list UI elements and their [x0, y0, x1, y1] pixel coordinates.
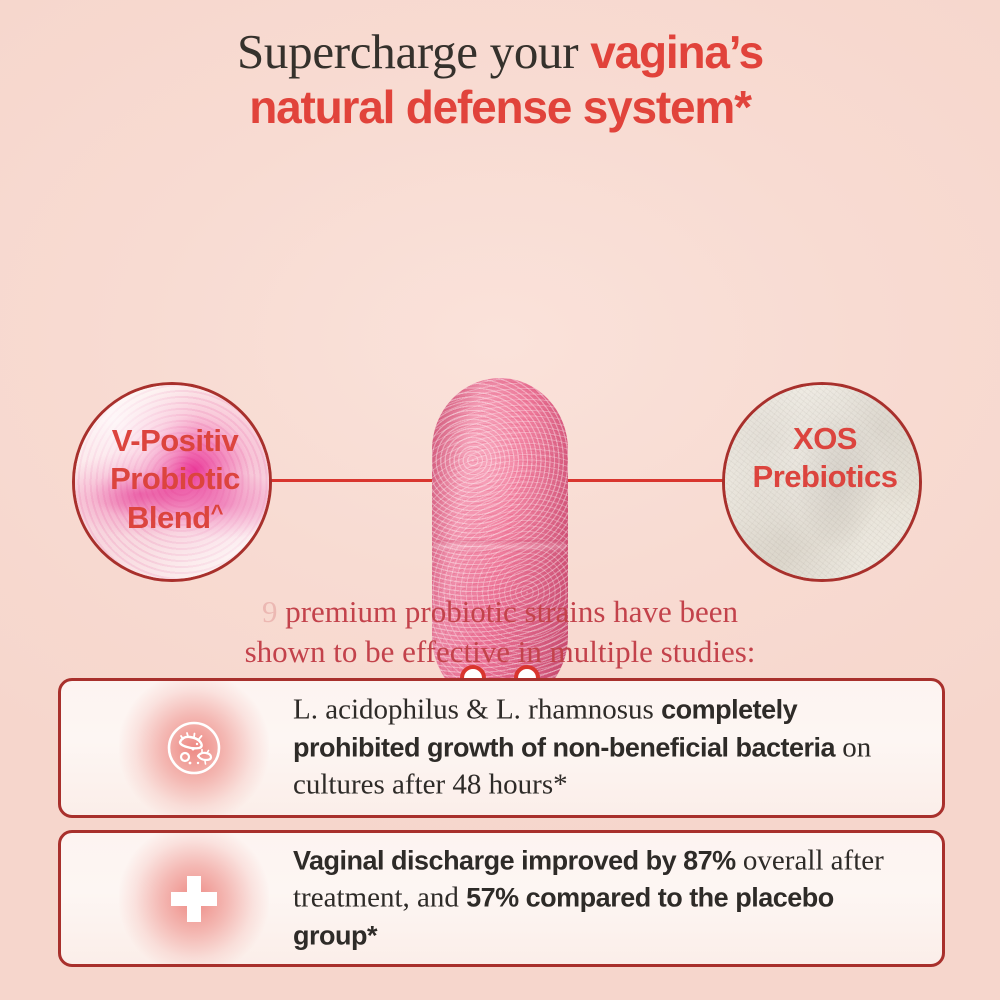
subheadline-text-1: premium probiotic strains have been [285, 594, 738, 629]
headline-line-1: Supercharge your vagina’s [0, 26, 1000, 78]
claim-text: Vaginal discharge improved by 87% overal… [293, 842, 918, 955]
capsule-seam [434, 540, 566, 552]
bacteria-icon [164, 718, 224, 778]
subheadline-line-1: 9 premium probiotic strains have been [0, 592, 1000, 632]
probiotic-label-line-3: Blend^ [30, 499, 320, 537]
claim-text: L. acidophilus & L. rhamnosus completely… [293, 691, 918, 804]
subheadline-lead-number: 9 [262, 594, 278, 629]
medical-cross-icon [166, 871, 222, 927]
probiotic-label-line-1: V-Positiv [30, 422, 320, 460]
promo-page: Supercharge your vagina’s natural defens… [0, 0, 1000, 1000]
claim-card: Vaginal discharge improved by 87% overal… [58, 830, 945, 967]
headline-accent-text: vagina’s [590, 26, 763, 78]
subheadline-line-2: shown to be effective in multiple studie… [0, 632, 1000, 672]
subheadline: 9 premium probiotic strains have been sh… [0, 592, 1000, 673]
probiotic-label-line-2: Probiotic [30, 460, 320, 498]
headline-serif-text: Supercharge your [237, 24, 590, 79]
probiotic-label: V-Positiv Probiotic Blend^ [30, 422, 320, 537]
claim-icon-zone [119, 681, 269, 815]
page-title: Supercharge your vagina’s natural defens… [0, 26, 1000, 132]
prebiotic-label-line-1: XOS [690, 420, 960, 458]
headline-accent-text-2: natural defense system* [249, 81, 751, 133]
headline-line-2: natural defense system* [0, 83, 1000, 132]
prebiotic-label-line-2: Prebiotics [690, 458, 960, 496]
probiotic-label-blend: Blend [127, 500, 211, 535]
claim-icon-zone [119, 833, 269, 964]
claim-text-seg-1: L. acidophilus & L. rhamnosus [293, 693, 661, 725]
prebiotic-label: XOS Prebiotics [690, 420, 960, 497]
claim-card: L. acidophilus & L. rhamnosus completely… [58, 678, 945, 818]
probiotic-label-superscript: ^ [211, 500, 223, 525]
claim-text-seg-1-bold: Vaginal discharge improved by 87% [293, 845, 736, 875]
